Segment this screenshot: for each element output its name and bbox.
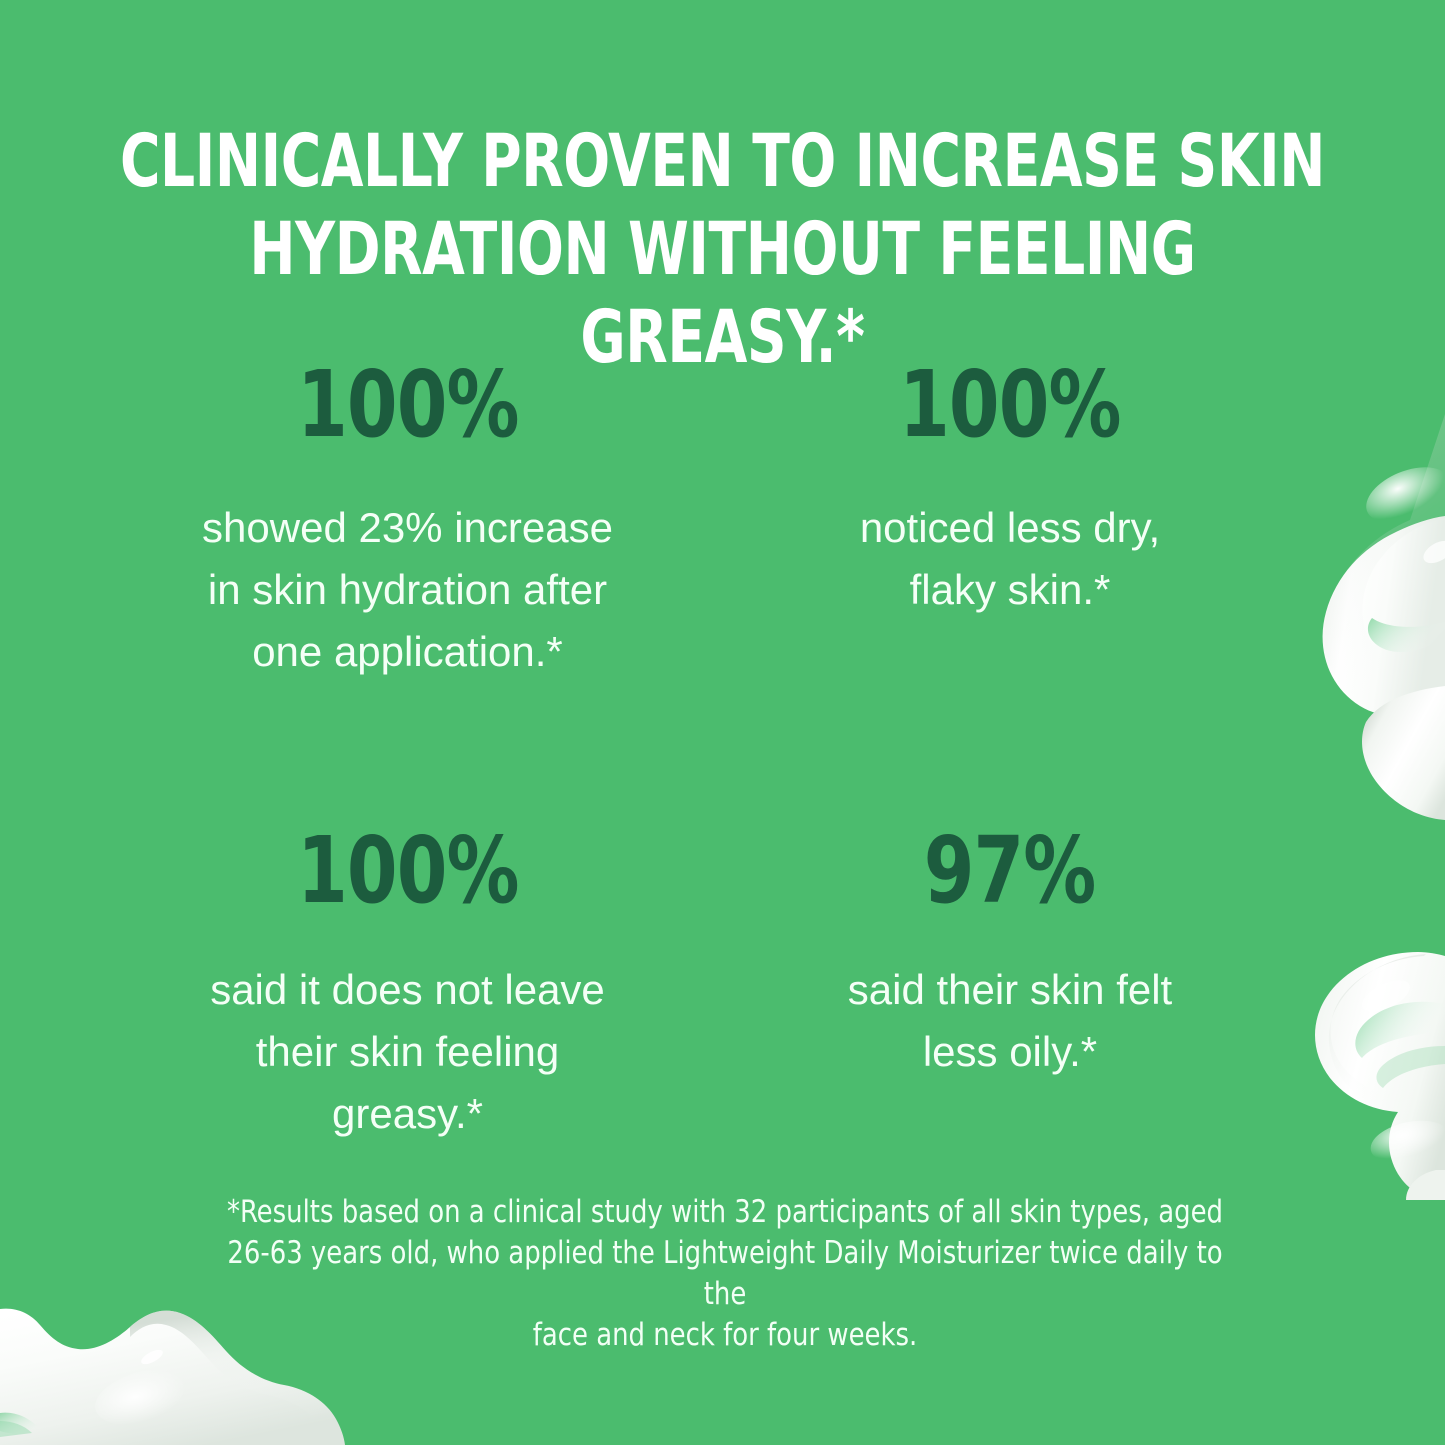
stat-description: noticed less dry, flaky skin.* [860, 497, 1160, 621]
stat-block-not-greasy: 100% said it does not leave their skin f… [95, 738, 685, 1145]
stat-description: showed 23% increase in skin hydration af… [202, 497, 613, 683]
stat-description: said it does not leave their skin feelin… [210, 959, 605, 1145]
stat-value: 97% [924, 823, 1096, 919]
stat-description: said their skin felt less oily.* [848, 959, 1172, 1083]
stat-block-hydration: 100% showed 23% increase in skin hydrati… [95, 355, 685, 738]
study-disclaimer: *Results based on a clinical study with … [209, 1192, 1241, 1356]
stat-value: 100% [297, 357, 518, 453]
stats-grid: 100% showed 23% increase in skin hydrati… [95, 355, 1275, 1145]
page-title: CLINICALLY PROVEN TO INCREASE SKIN HYDRA… [116, 118, 1330, 382]
stat-value: 100% [899, 357, 1120, 453]
stat-block-less-oily: 97% said their skin felt less oily.* [685, 738, 1275, 1145]
stat-block-dry-flaky: 100% noticed less dry, flaky skin.* [685, 355, 1275, 738]
stat-value: 100% [297, 823, 518, 919]
promo-graphic: CLINICALLY PROVEN TO INCREASE SKIN HYDRA… [0, 0, 1445, 1445]
